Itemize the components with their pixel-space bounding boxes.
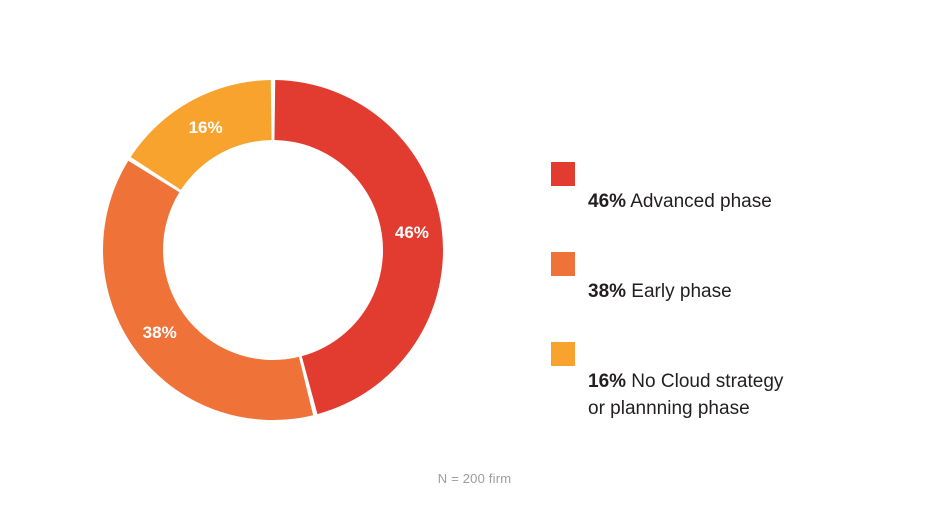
legend-percent-advanced-phase: 46% bbox=[588, 191, 626, 212]
footnote-text: N = 200 firm bbox=[438, 471, 512, 486]
chart-canvas: 46% 38% 16% 46% Advanced phase 38% Early… bbox=[0, 0, 949, 531]
legend-label-early-phase: 38% Early phase bbox=[588, 251, 732, 305]
legend-percent-no-cloud-strategy: 16% bbox=[588, 371, 626, 392]
legend-item-advanced-phase[interactable]: 46% Advanced phase bbox=[551, 161, 881, 215]
donut-chart: 46% 38% 16% bbox=[103, 80, 443, 420]
legend-swatch-advanced-phase bbox=[551, 162, 575, 186]
legend-label-advanced-phase: 46% Advanced phase bbox=[588, 161, 772, 215]
donut-slices bbox=[103, 80, 443, 420]
donut-chart-svg: 46% 38% 16% bbox=[103, 80, 443, 420]
legend-percent-early-phase: 38% bbox=[588, 281, 626, 302]
donut-label-no-cloud-strategy: 16% bbox=[189, 118, 223, 137]
legend-item-no-cloud-strategy[interactable]: 16% No Cloud strategy or plannning phase bbox=[551, 341, 881, 422]
legend-swatch-no-cloud-strategy bbox=[551, 342, 575, 366]
legend-swatch-early-phase bbox=[551, 252, 575, 276]
legend-name-early-phase: Early phase bbox=[626, 281, 732, 302]
donut-label-advanced-phase: 46% bbox=[395, 223, 429, 242]
chart-footnote: N = 200 firm bbox=[0, 471, 949, 486]
donut-label-early-phase: 38% bbox=[143, 323, 177, 342]
donut-slice-early-phase[interactable] bbox=[103, 161, 313, 420]
legend-item-early-phase[interactable]: 38% Early phase bbox=[551, 251, 881, 305]
chart-legend: 46% Advanced phase 38% Early phase 16% N… bbox=[551, 161, 881, 422]
legend-name-advanced-phase: Advanced phase bbox=[626, 191, 772, 212]
legend-label-no-cloud-strategy: 16% No Cloud strategy or plannning phase bbox=[588, 341, 783, 422]
